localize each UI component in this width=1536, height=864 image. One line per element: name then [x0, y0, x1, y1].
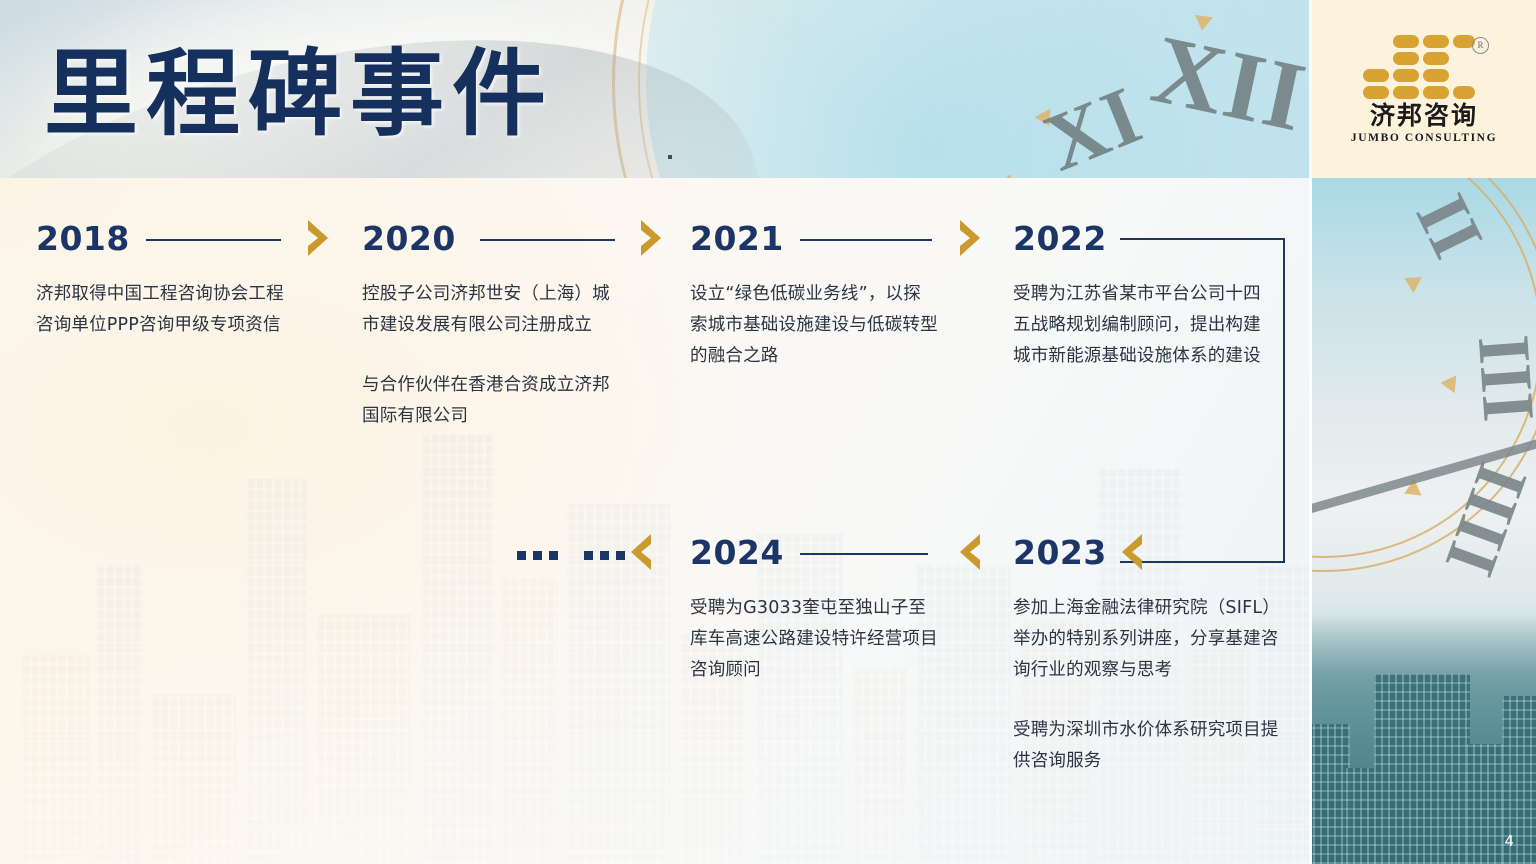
panel-clock-tick-2 [1440, 374, 1457, 393]
timeline-para: 与合作伙伴在香港合资成立济邦国际有限公司 [362, 370, 624, 432]
timeline-line-2020 [480, 239, 615, 241]
timeline-para: 受聘为深圳市水价体系研究项目提供咨询服务 [1013, 715, 1281, 777]
page-title: 里程碑事件 [44, 18, 554, 154]
timeline-desc-2018: 济邦取得中国工程咨询协会工程咨询单位PPP咨询甲级专项资信 [36, 279, 300, 341]
chevron-right-icon-2021 [957, 219, 983, 257]
timeline-desc-2024: 受聘为G3033奎屯至独山子至库车高速公路建设特许经营项目咨询顾问 [690, 593, 938, 686]
registered-trademark-icon: R [1472, 37, 1489, 54]
chevron-right-icon-2018 [305, 219, 331, 257]
panel-building-2 [1346, 768, 1376, 864]
timeline-line-2021 [800, 239, 932, 241]
panel-divider [1309, 0, 1312, 864]
title-decor-dot [668, 155, 672, 159]
timeline-desc-2021: 设立“绿色低碳业务线”，以探索城市基础设施建设与低碳转型的融合之路 [690, 279, 938, 372]
timeline-para: 济邦取得中国工程咨询协会工程咨询单位PPP咨询甲级专项资信 [36, 279, 300, 341]
timeline-para: 受聘为G3033奎屯至独山子至库车高速公路建设特许经营项目咨询顾问 [690, 593, 938, 686]
logo-name-cn: 济邦咨询 [1370, 103, 1478, 128]
logo-name-en: JUMBO CONSULTING [1351, 132, 1497, 144]
timeline-para: 设立“绿色低碳业务线”，以探索城市基础设施建设与低碳转型的融合之路 [690, 279, 938, 372]
timeline-desc-2023: 参加上海金融法律研究院（SIFL）举办的特别系列讲座，分享基建咨询行业的观察与思… [1013, 593, 1281, 777]
timeline-line-2018 [146, 239, 281, 241]
right-decor-panel: II III IIII 4 [1312, 178, 1536, 864]
timeline-desc-2020: 控股子公司济邦世安（上海）城市建设发展有限公司注册成立 与合作伙伴在香港合资成立… [362, 279, 624, 432]
page-number: 4 [1504, 832, 1514, 850]
timeline-line-2024 [800, 553, 928, 555]
slide-root: XI XII 里程碑事件 R 济邦咨询 JUMBO CONSULTING [0, 0, 1536, 864]
panel-roman-numeral-iii: III [1460, 332, 1536, 424]
panel-building-4 [1466, 744, 1506, 864]
brand-logo-panel: R 济邦咨询 JUMBO CONSULTING [1312, 0, 1536, 178]
timeline-para: 控股子公司济邦世安（上海）城市建设发展有限公司注册成立 [362, 279, 624, 341]
timeline-para: 参加上海金融法律研究院（SIFL）举办的特别系列讲座，分享基建咨询行业的观察与思… [1013, 593, 1281, 686]
slide-header: XI XII 里程碑事件 [0, 0, 1312, 178]
chevron-left-icon-2023 [957, 533, 983, 571]
jumbo-brick-logo-icon: R [1363, 35, 1485, 99]
chevron-right-icon-2020 [638, 219, 664, 257]
chevron-left-icon-2024 [628, 533, 654, 571]
timeline-ellipsis [517, 551, 625, 560]
timeline-bracket-2022-to-2023 [1120, 238, 1285, 563]
timeline-year-2023: 2023 [1013, 533, 1283, 572]
ellipsis-group-1 [517, 551, 558, 560]
panel-building-1 [1312, 724, 1350, 864]
ellipsis-group-2 [584, 551, 625, 560]
chevron-left-icon-bracket [1119, 533, 1145, 571]
panel-building-3 [1374, 674, 1470, 864]
timeline-node-2023[interactable]: 2023 [1013, 533, 1283, 572]
slide-body: 2018 济邦取得中国工程咨询协会工程咨询单位PPP咨询甲级专项资信 2020 … [0, 178, 1312, 864]
